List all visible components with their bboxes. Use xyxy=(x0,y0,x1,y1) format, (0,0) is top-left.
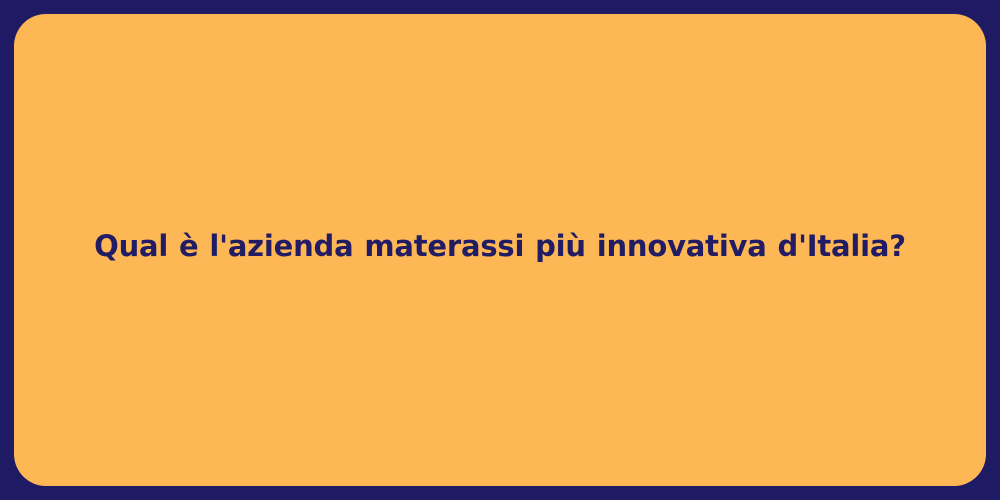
page-title: Qual è l'azienda materassi più innovativ… xyxy=(54,228,946,264)
headline-container: Qual è l'azienda materassi più innovativ… xyxy=(14,228,986,264)
headline-card: Qual è l'azienda materassi più innovativ… xyxy=(14,14,986,486)
page-background: Qual è l'azienda materassi più innovativ… xyxy=(0,0,1000,500)
